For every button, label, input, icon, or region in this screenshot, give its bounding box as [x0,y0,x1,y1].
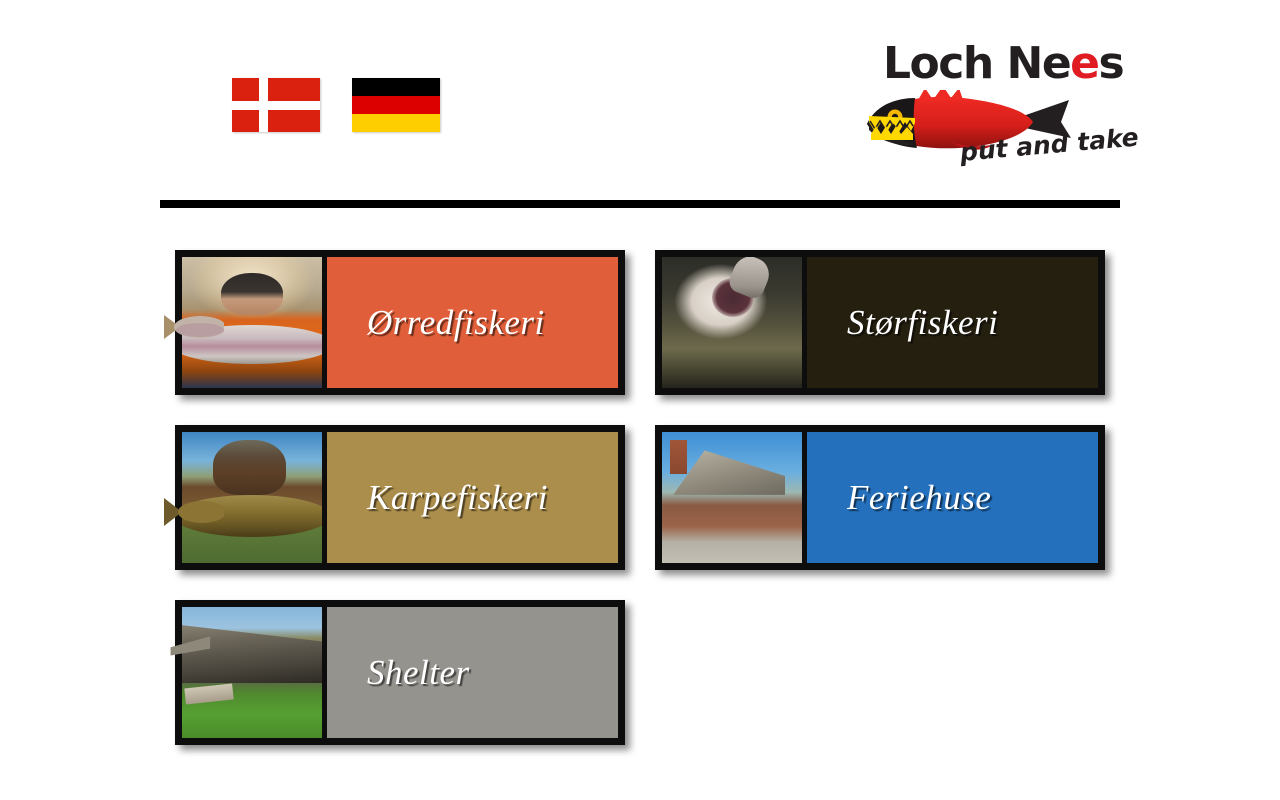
german-flag-band-gold [352,114,440,132]
tile-thumbnail-shelter [182,607,327,738]
tile-karpefiskeri[interactable]: Karpefiskeri [175,425,625,570]
tile-label: Ørredfiskeri [367,303,545,343]
tile-thumbnail-house [662,432,807,563]
tile-thumbnail-carp [182,432,327,563]
tile-row: Karpefiskeri Feriehuse [0,425,1280,570]
page-header: Loch Nees [0,0,1280,190]
danish-flag-cross-horizontal [232,101,320,110]
logo-wordmark-highlight: e [1070,38,1098,89]
logo-wordmark-suffix: s [1099,38,1124,89]
tile-thumbnail-trout [182,257,327,388]
tile-label: Feriehuse [847,478,991,518]
tile-row: Shelter [0,600,1280,745]
language-selector [232,78,440,132]
german-flag-band-red [352,96,440,114]
german-flag-button[interactable] [352,78,440,132]
header-divider [160,200,1120,208]
tile-label: Karpefiskeri [367,478,548,518]
tile-label: Shelter [367,653,470,693]
german-flag-band-black [352,78,440,96]
tile-panel: Størfiskeri [807,257,1098,388]
tile-panel: Shelter [327,607,618,738]
logo-wordmark-prefix: Loch Ne [883,38,1070,89]
danish-flag-button[interactable] [232,78,320,132]
page-root: Loch Nees [0,0,1280,800]
site-logo[interactable]: Loch Nees [855,38,1095,173]
tile-storfiskeri[interactable]: Størfiskeri [655,250,1105,395]
logo-wordmark: Loch Nees [883,42,1123,86]
tile-label: Størfiskeri [847,303,998,343]
tile-panel: Feriehuse [807,432,1098,563]
tile-row: Ørredfiskeri Størfiskeri [0,250,1280,395]
tile-shelter[interactable]: Shelter [175,600,625,745]
tile-orredfiskeri[interactable]: Ørredfiskeri [175,250,625,395]
tile-thumbnail-sturgeon [662,257,807,388]
tile-panel: Ørredfiskeri [327,257,618,388]
tile-feriehuse[interactable]: Feriehuse [655,425,1105,570]
tile-panel: Karpefiskeri [327,432,618,563]
